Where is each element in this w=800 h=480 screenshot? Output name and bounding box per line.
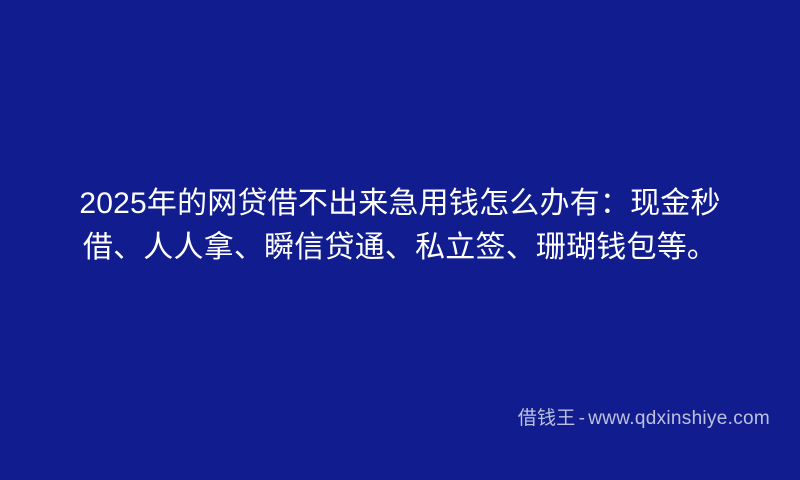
headline-text: 2025年的网贷借不出来急用钱怎么办有：现金秒 借、人人拿、瞬信贷通、私立签、珊…	[0, 182, 800, 270]
watermark-brand: 借钱王	[518, 408, 576, 429]
headline-line-1: 2025年的网贷借不出来急用钱怎么办有：现金秒	[0, 182, 800, 226]
promo-banner: 2025年的网贷借不出来急用钱怎么办有：现金秒 借、人人拿、瞬信贷通、私立签、珊…	[0, 0, 800, 480]
headline-line-2: 借、人人拿、瞬信贷通、私立签、珊瑚钱包等。	[0, 226, 800, 270]
watermark-separator: -	[576, 408, 589, 429]
watermark: 借钱王-www.qdxinshiye.com	[0, 407, 770, 431]
watermark-url: www.qdxinshiye.com	[588, 408, 770, 429]
